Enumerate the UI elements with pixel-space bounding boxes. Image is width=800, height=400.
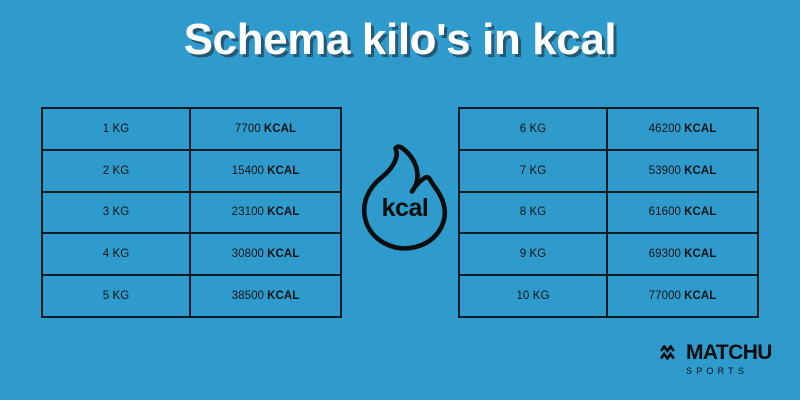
kcal-value: 23100: [232, 206, 264, 218]
cell-kcal: 38500KCAL: [191, 276, 340, 316]
cell-kcal: 30800KCAL: [191, 234, 340, 274]
cell-kg: 10 KG: [460, 276, 608, 316]
kcal-value: 38500: [232, 290, 264, 302]
cell-kcal: 61600KCAL: [608, 193, 757, 233]
kcal-unit: KCAL: [684, 165, 716, 177]
kcal-unit: KCAL: [267, 165, 299, 177]
kcal-value: 30800: [232, 248, 264, 260]
kcal-unit: KCAL: [684, 123, 716, 135]
cell-kg: 7 KG: [460, 151, 608, 191]
cell-kcal: 53900KCAL: [608, 151, 757, 191]
table-row: 10 KG 77000KCAL: [460, 276, 757, 316]
flame-icon-label: kcal: [355, 196, 455, 221]
kcal-value: 7700: [235, 123, 261, 135]
cell-kg: 2 KG: [43, 151, 191, 191]
kcal-value: 15400: [232, 165, 264, 177]
table-row: 2 KG 15400KCAL: [43, 151, 340, 193]
kcal-unit: KCAL: [267, 206, 299, 218]
logo-wordmark: MATCHU: [686, 342, 772, 364]
zigzag-mountain-icon: [660, 345, 684, 361]
table-row: 1 KG 7700KCAL: [43, 109, 340, 151]
table-row: 7 KG 53900KCAL: [460, 151, 757, 193]
table-row: 4 KG 30800KCAL: [43, 234, 340, 276]
kcal-unit: KCAL: [267, 248, 299, 260]
kcal-unit: KCAL: [684, 248, 716, 260]
cell-kcal: 15400KCAL: [191, 151, 340, 191]
kcal-table-left: 1 KG 7700KCAL 2 KG 15400KCAL 3 KG 23100K…: [41, 107, 342, 318]
kcal-value: 77000: [649, 290, 681, 302]
table-row: 5 KG 38500KCAL: [43, 276, 340, 316]
logo-subtitle: SPORTS: [660, 365, 770, 377]
logo-top-row: MATCHU: [660, 342, 770, 364]
page-title: Schema kilo's in kcal: [0, 14, 800, 66]
kcal-value: 53900: [649, 165, 681, 177]
table-row: 6 KG 46200KCAL: [460, 109, 757, 151]
cell-kg: 4 KG: [43, 234, 191, 274]
cell-kcal: 77000KCAL: [608, 276, 757, 316]
cell-kg: 5 KG: [43, 276, 191, 316]
kcal-value: 69300: [649, 248, 681, 260]
kcal-unit: KCAL: [684, 290, 716, 302]
kcal-value: 61600: [649, 206, 681, 218]
table-row: 3 KG 23100KCAL: [43, 193, 340, 235]
cell-kg: 8 KG: [460, 193, 608, 233]
cell-kcal: 69300KCAL: [608, 234, 757, 274]
cell-kg: 6 KG: [460, 109, 608, 149]
kcal-unit: KCAL: [264, 123, 296, 135]
cell-kcal: 23100KCAL: [191, 193, 340, 233]
table-row: 9 KG 69300KCAL: [460, 234, 757, 276]
brand-logo: MATCHU SPORTS: [660, 342, 770, 384]
kcal-unit: KCAL: [684, 206, 716, 218]
table-row: 8 KG 61600KCAL: [460, 193, 757, 235]
infographic-canvas: Schema kilo's in kcal 1 KG 7700KCAL 2 KG…: [0, 0, 800, 400]
cell-kg: 3 KG: [43, 193, 191, 233]
kcal-unit: KCAL: [267, 290, 299, 302]
cell-kg: 1 KG: [43, 109, 191, 149]
cell-kcal: 46200KCAL: [608, 109, 757, 149]
cell-kg: 9 KG: [460, 234, 608, 274]
cell-kcal: 7700KCAL: [191, 109, 340, 149]
kcal-value: 46200: [649, 123, 681, 135]
kcal-table-right: 6 KG 46200KCAL 7 KG 53900KCAL 8 KG 61600…: [458, 107, 759, 318]
